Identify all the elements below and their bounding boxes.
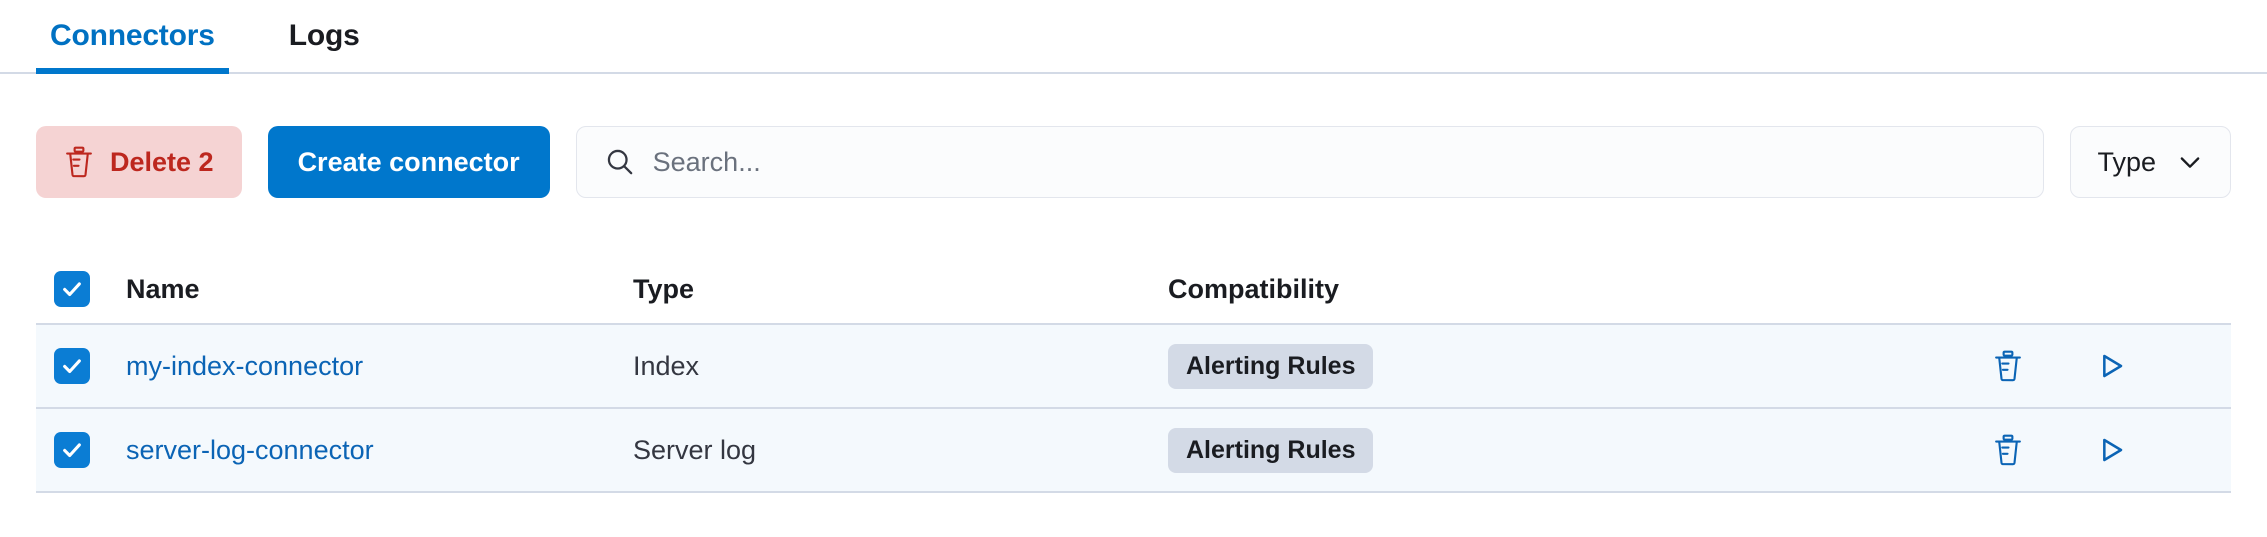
tab-logs[interactable]: Logs <box>275 0 374 72</box>
connectors-page: Connectors Logs Delete 2 Create connecto… <box>0 0 2267 537</box>
row-name-cell: server-log-connector <box>98 435 633 466</box>
column-header-name[interactable]: Name <box>98 274 633 305</box>
tab-connectors[interactable]: Connectors <box>36 0 229 72</box>
column-header-compatibility[interactable]: Compatibility <box>1168 274 1971 305</box>
row-actions-cell <box>1971 433 2231 467</box>
row-run-icon[interactable] <box>2095 434 2127 466</box>
delete-button[interactable]: Delete 2 <box>36 126 242 198</box>
column-header-type[interactable]: Type <box>633 274 1168 305</box>
toolbar: Delete 2 Create connector Type <box>36 126 2231 198</box>
row-select-cell <box>36 348 98 384</box>
row-actions-cell <box>1971 349 2231 383</box>
connector-name-link[interactable]: server-log-connector <box>126 435 374 465</box>
row-type-cell: Index <box>633 351 1168 382</box>
row-delete-icon[interactable] <box>1993 433 2023 467</box>
row-select-cell <box>36 432 98 468</box>
row-checkbox[interactable] <box>54 432 90 468</box>
create-connector-label: Create connector <box>298 147 520 178</box>
search-input[interactable] <box>576 126 2045 198</box>
search-field <box>576 126 2045 198</box>
tab-logs-label: Logs <box>289 19 360 53</box>
connector-name-link[interactable]: my-index-connector <box>126 351 363 381</box>
type-filter-button[interactable]: Type <box>2070 126 2231 198</box>
tab-connectors-label: Connectors <box>50 19 215 53</box>
table-row[interactable]: server-log-connector Server log Alerting… <box>36 409 2231 493</box>
table-row[interactable]: my-index-connector Index Alerting Rules <box>36 325 2231 409</box>
row-name-cell: my-index-connector <box>98 351 633 382</box>
select-all-cell <box>36 271 98 307</box>
trash-icon <box>64 145 94 179</box>
row-delete-icon[interactable] <box>1993 349 2023 383</box>
compatibility-badge: Alerting Rules <box>1168 344 1373 389</box>
row-compatibility-cell: Alerting Rules <box>1168 428 1971 473</box>
row-compatibility-cell: Alerting Rules <box>1168 344 1971 389</box>
tab-bar: Connectors Logs <box>0 0 2267 74</box>
type-filter-label: Type <box>2097 147 2156 178</box>
compatibility-badge: Alerting Rules <box>1168 428 1373 473</box>
row-type-cell: Server log <box>633 435 1168 466</box>
delete-button-label: Delete 2 <box>110 147 214 178</box>
connectors-table: Name Type Compatibility my-index-connect… <box>36 255 2231 493</box>
create-connector-button[interactable]: Create connector <box>268 126 550 198</box>
row-run-icon[interactable] <box>2095 350 2127 382</box>
chevron-down-icon <box>2176 148 2204 176</box>
select-all-checkbox[interactable] <box>54 271 90 307</box>
row-checkbox[interactable] <box>54 348 90 384</box>
table-header-row: Name Type Compatibility <box>36 255 2231 325</box>
